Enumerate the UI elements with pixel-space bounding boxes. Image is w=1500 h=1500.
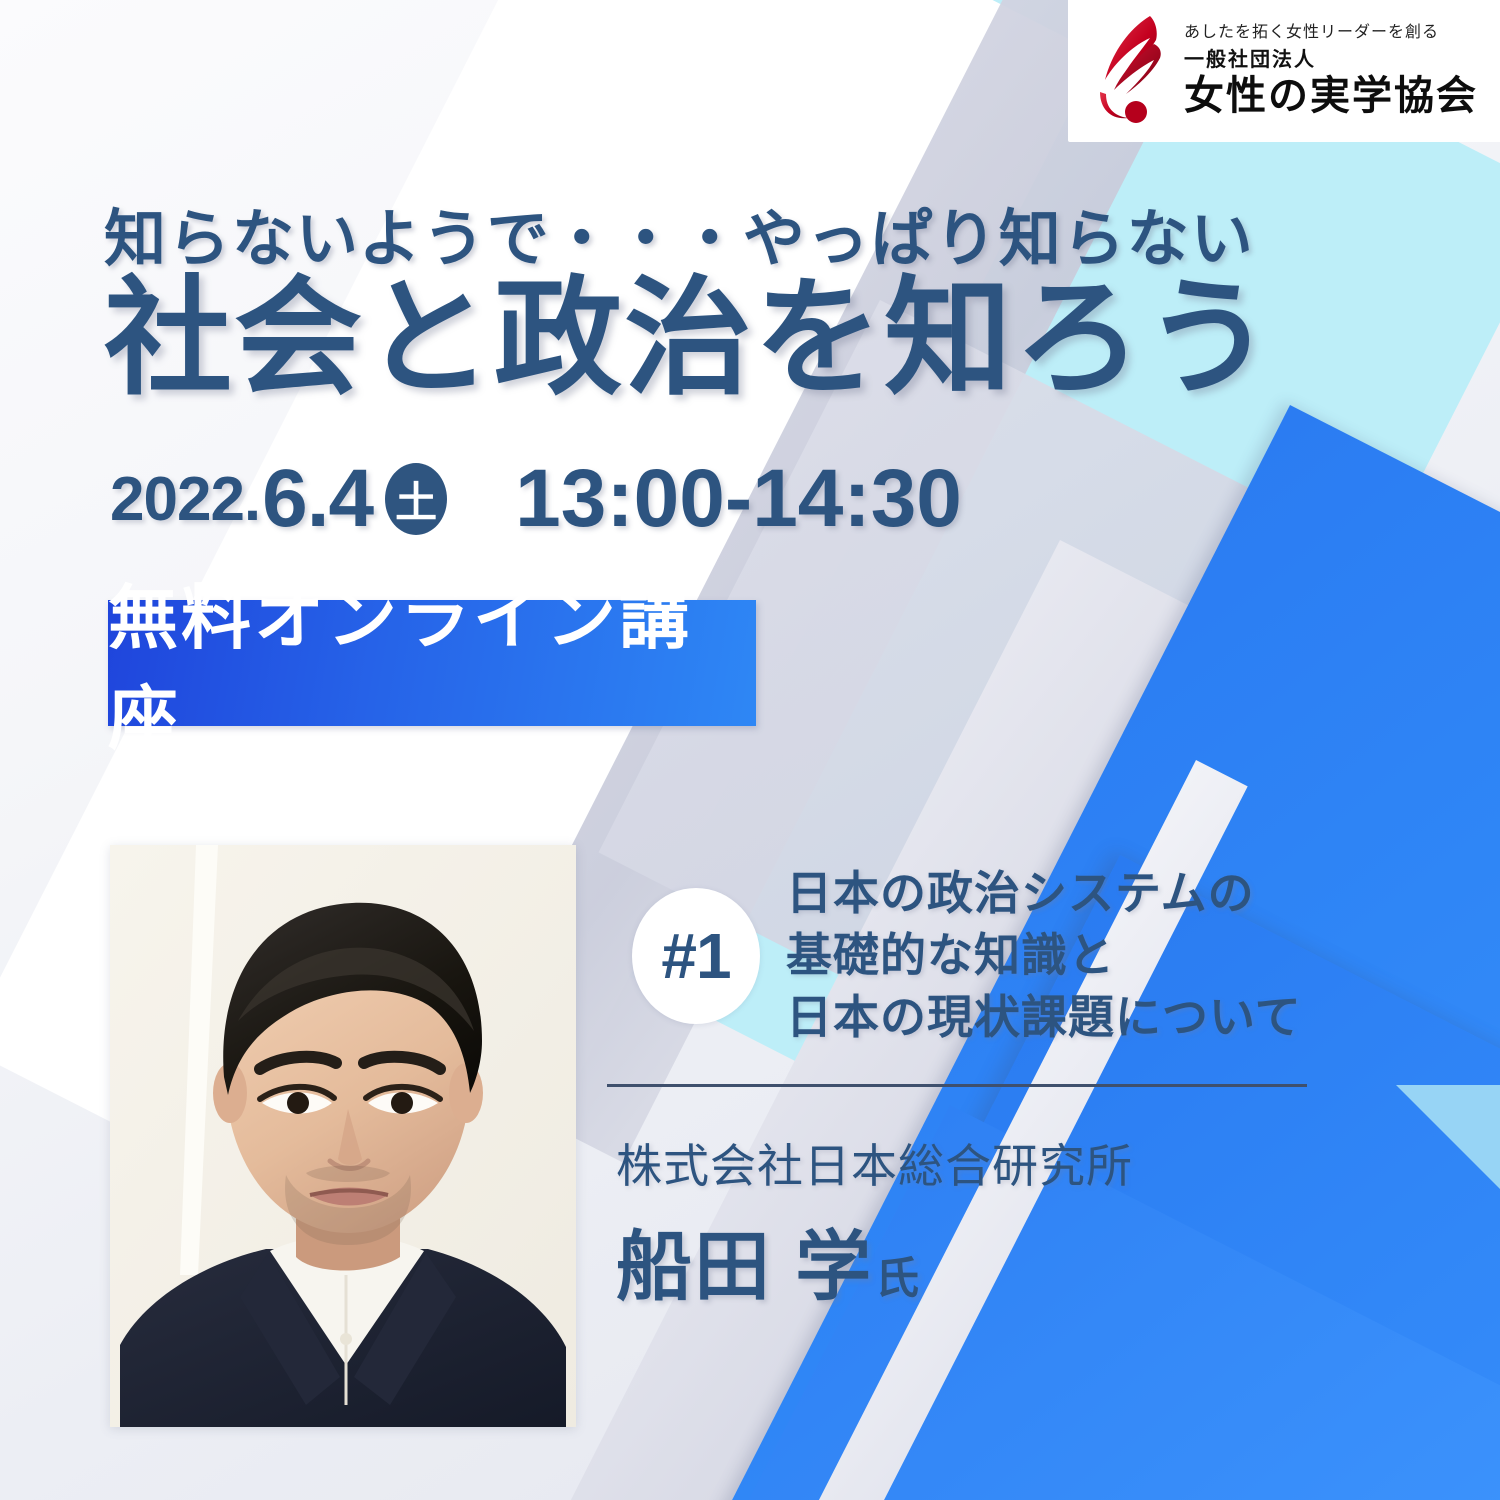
section-divider (607, 1084, 1307, 1087)
speaker-portrait (110, 845, 576, 1427)
speaker-name: 船田 学 (616, 1205, 873, 1315)
free-online-course-banner: 無料オンライン講座 (108, 600, 756, 726)
session-topic: 日本の政治システムの 基礎的な知識と 日本の現状課題について (786, 862, 1302, 1048)
cyan-triangle-accent (1396, 1085, 1500, 1235)
session-topic-line-3: 日本の現状課題について (786, 986, 1302, 1048)
headline-subtitle: 知らないようで・・・やっぱり知らない (104, 188, 1255, 278)
session-number: #1 (661, 919, 730, 993)
schedule-dow-badge: 土 (385, 463, 447, 535)
organization-logo: あしたを拓く女性リーダーを創る 一般社団法人 女性の実学協会 (1068, 0, 1500, 142)
poster-canvas: あしたを拓く女性リーダーを創る 一般社団法人 女性の実学協会 知らないようで・・… (0, 0, 1500, 1500)
session-topic-line-1: 日本の政治システムの (786, 862, 1302, 924)
logo-org-kind: 一般社団法人 (1184, 50, 1316, 70)
session-number-badge: #1 (632, 888, 760, 1024)
logo-org-name: 女性の実学協会 (1184, 76, 1478, 116)
feather-flame-logo-icon (1092, 14, 1170, 126)
logo-tagline: あしたを拓く女性リーダーを創る (1184, 25, 1439, 41)
banner-label: 無料オンライン講座 (108, 562, 756, 764)
speaker-honorific: 氏 (875, 1242, 921, 1306)
schedule-month-day: 6.4 (262, 452, 373, 546)
schedule-year: 2022. (110, 464, 260, 535)
speaker-portrait-image (110, 845, 576, 1427)
schedule-time: 13:00-14:30 (515, 452, 962, 546)
speaker-name-row: 船田 学 氏 (616, 1205, 921, 1315)
schedule-row: 2022. 6.4 土 13:00-14:30 (110, 452, 962, 546)
speaker-organization: 株式会社日本総合研究所 (616, 1130, 1133, 1196)
schedule-dow-label: 土 (395, 469, 437, 530)
session-topic-line-2: 基礎的な知識と (786, 924, 1302, 986)
headline-title: 社会と政治を知ろう (104, 272, 1274, 406)
